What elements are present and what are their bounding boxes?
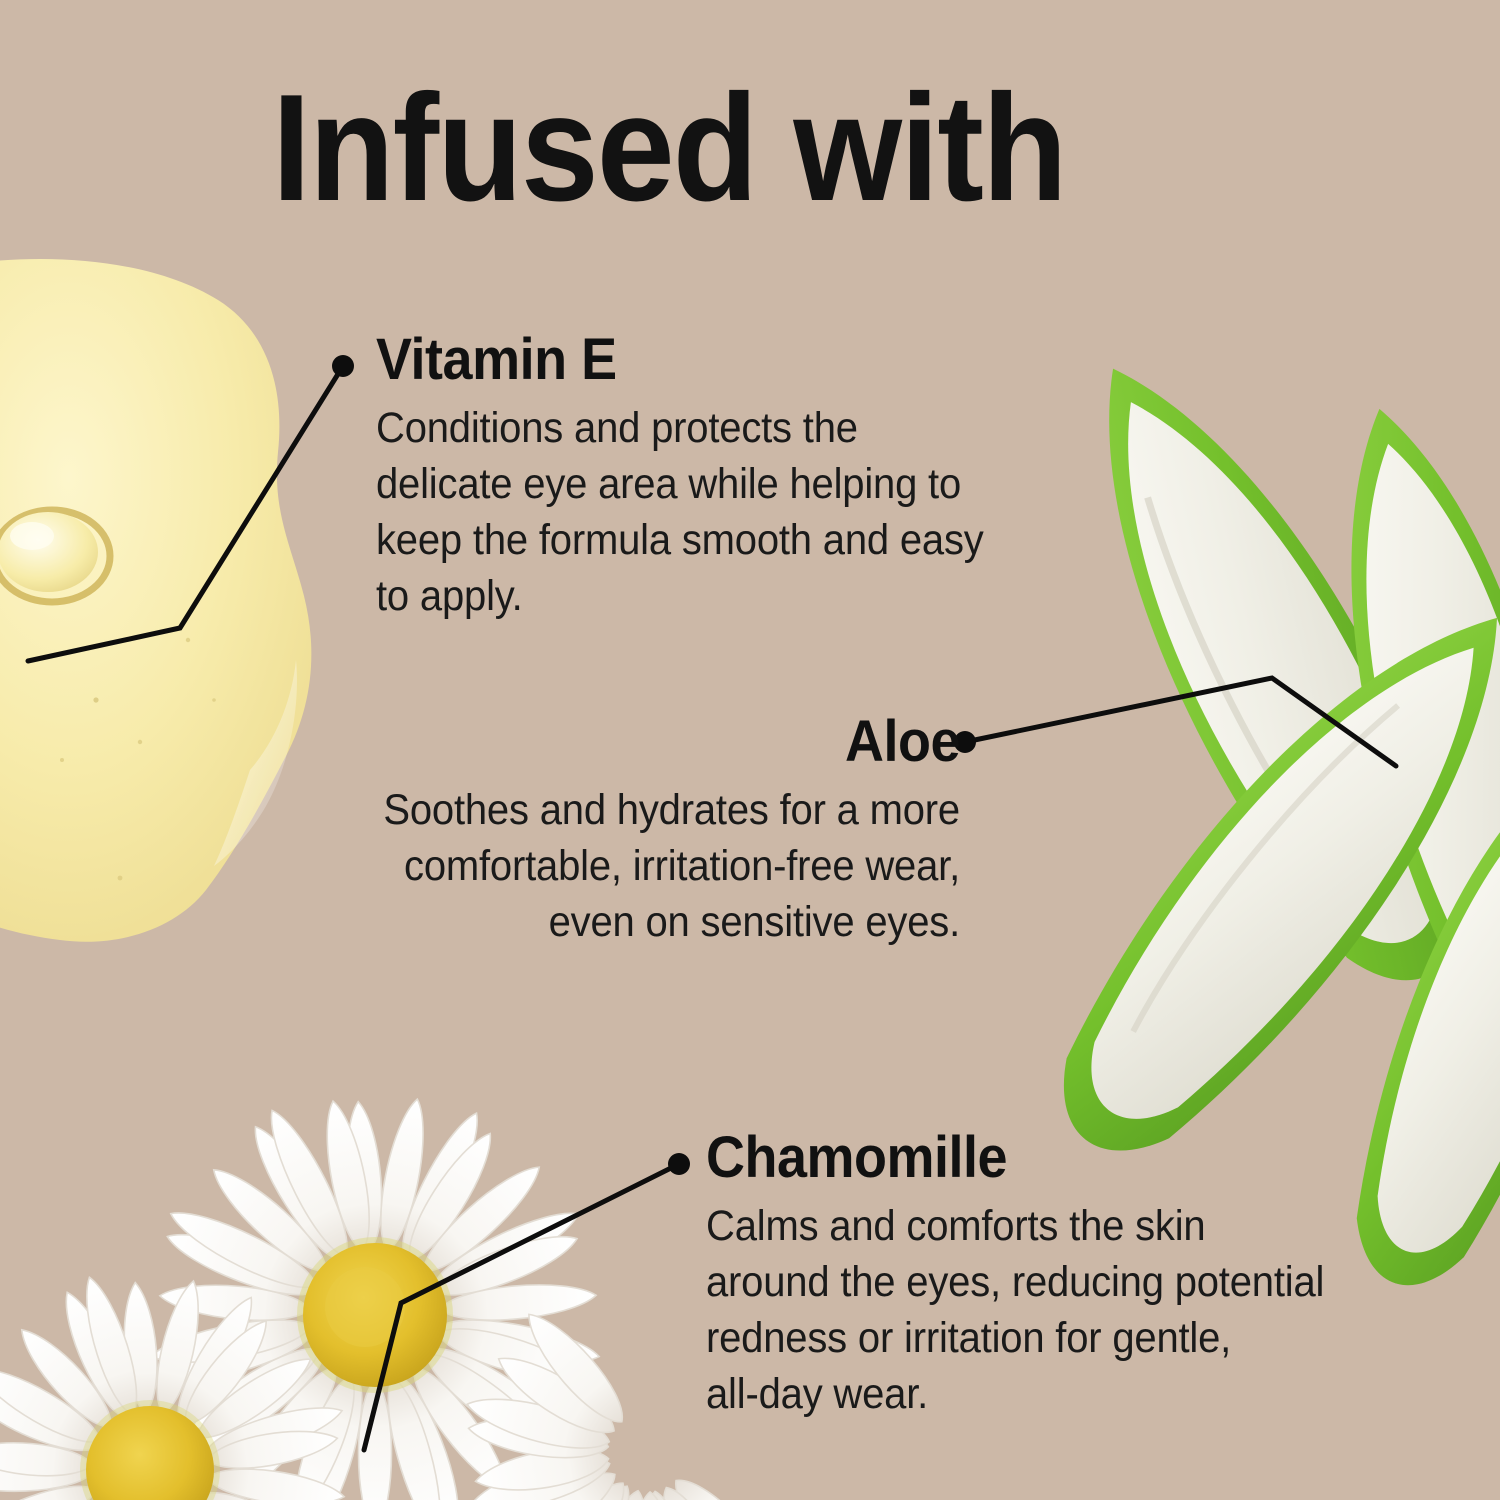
ingredient-description-aloe: Soothes and hydrates for a more comforta… xyxy=(346,783,960,951)
infographic-canvas: Infused with Vitamin E Conditions and pr… xyxy=(0,0,1500,1500)
ingredient-title-chamomille: Chamomille xyxy=(706,1128,1357,1189)
ingredient-title-aloe: Aloe xyxy=(346,712,960,773)
ingredient-description-vitamin-e: Conditions and protects the delicate eye… xyxy=(376,401,1018,625)
ingredient-callout-chamomille: Chamomille Calms and comforts the skin a… xyxy=(706,1128,1406,1422)
ingredient-callout-aloe: Aloe Soothes and hydrates for a more com… xyxy=(300,712,960,951)
page-title: Infused with xyxy=(272,72,1066,224)
ingredient-title-vitamin-e: Vitamin E xyxy=(376,330,1018,391)
ingredient-description-chamomille: Calms and comforts the skin around the e… xyxy=(706,1199,1357,1423)
ingredient-callout-vitamin-e: Vitamin E Conditions and protects the de… xyxy=(376,330,1066,624)
